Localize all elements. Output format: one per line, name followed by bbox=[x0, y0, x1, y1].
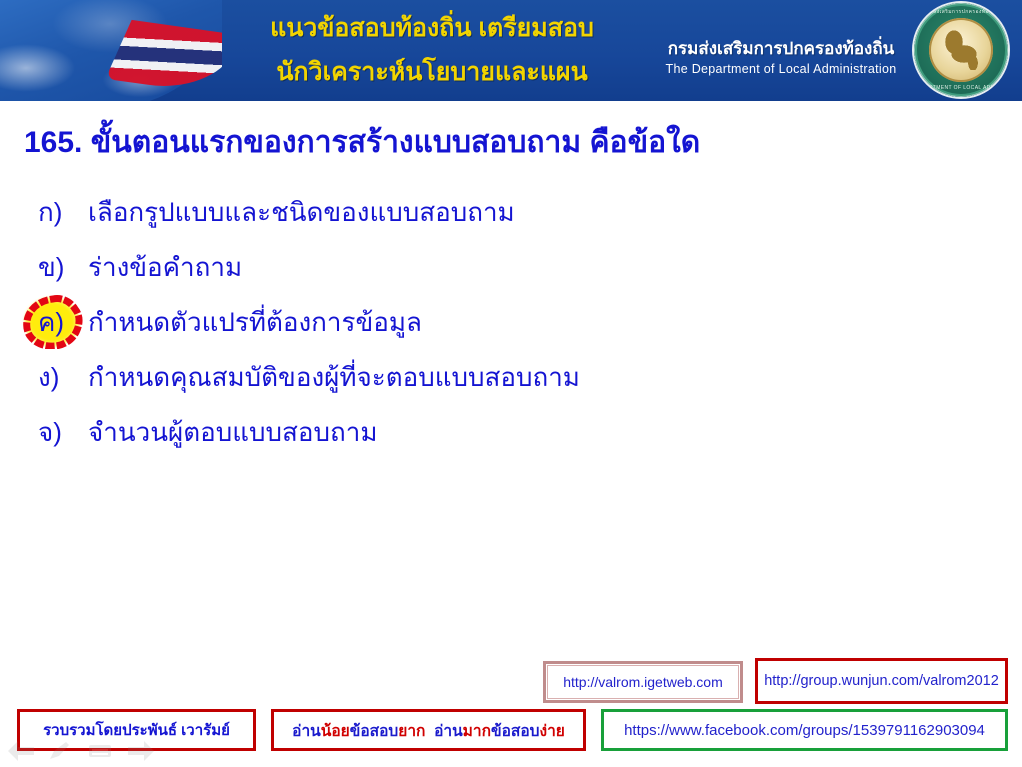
slideshow-next-button[interactable] bbox=[128, 741, 154, 761]
motto-box: อ่านน้อยข้อสอบยาก อ่านมากข้อสอบง่าย bbox=[271, 709, 586, 751]
choice-text-kho: ร่างข้อคำถาม bbox=[88, 250, 970, 284]
choice-item-ka[interactable]: ก) เลือกรูปแบบและชนิดของแบบสอบถาม bbox=[30, 184, 970, 239]
slideshow-pen-button[interactable] bbox=[48, 741, 70, 761]
website-link-box-2[interactable]: http://group.wunjun.com/valrom2012 bbox=[755, 658, 1008, 704]
banner-title-line1: แนวข้อสอบท้องถิ่น เตรียมสอบ bbox=[270, 14, 594, 42]
seal-text-top: กรมส่งเสริมการปกครองท้องถิ่น bbox=[914, 8, 1008, 16]
motto-seg-4: ยาก bbox=[398, 723, 425, 740]
header-banner: แนวข้อสอบท้องถิ่น เตรียมสอบ นักวิเคราะห์… bbox=[0, 0, 1022, 101]
department-name: กรมส่งเสริมการปกครองท้องถิ่น The Departm… bbox=[650, 38, 912, 78]
motto-seg-8: ง่าย bbox=[540, 723, 565, 740]
seal-inner-disc bbox=[929, 18, 993, 82]
choice-item-kho-khwai[interactable]: ค) กำหนดตัวแปรที่ต้องการข้อมูล bbox=[30, 294, 970, 349]
motto-seg-3: ข้อสอบ bbox=[350, 723, 399, 740]
department-seal-icon: กรมส่งเสริมการปกครองท้องถิ่น DEPARTMENT … bbox=[914, 3, 1008, 97]
choice-list: ก) เลือกรูปแบบและชนิดของแบบสอบถาม ข) ร่า… bbox=[30, 184, 970, 459]
question-title: 165. ขั้นตอนแรกของการสร้างแบบสอบถาม คือข… bbox=[24, 123, 974, 163]
choice-key-ka: ก) bbox=[30, 195, 88, 229]
choice-text-cho: จำนวนผู้ตอบแบบสอบถาม bbox=[88, 415, 970, 449]
choice-text-ngo: กำหนดคุณสมบัติของผู้ที่จะตอบแบบสอบถาม bbox=[88, 360, 970, 394]
choice-item-kho[interactable]: ข) ร่างข้อคำถาม bbox=[30, 239, 970, 294]
thai-flag-graphic bbox=[0, 0, 222, 101]
choice-key-kho-khwai: ค) bbox=[30, 305, 88, 339]
motto-seg-5: อ่าน bbox=[434, 723, 463, 740]
choice-text-ka: เลือกรูปแบบและชนิดของแบบสอบถาม bbox=[88, 195, 970, 229]
slideshow-previous-button[interactable] bbox=[8, 741, 34, 761]
motto-seg-6: มาก bbox=[463, 723, 491, 740]
facebook-link[interactable]: https://www.facebook.com/groups/15397911… bbox=[624, 722, 985, 739]
choice-item-cho[interactable]: จ) จำนวนผู้ตอบแบบสอบถาม bbox=[30, 404, 970, 459]
motto-seg-2: น้อย bbox=[321, 723, 350, 740]
seal-text-bottom: DEPARTMENT OF LOCAL ADMINISTRATION bbox=[914, 85, 1008, 91]
website-link-box-1[interactable]: http://valrom.igetweb.com bbox=[543, 661, 743, 703]
lion-emblem-icon bbox=[942, 30, 980, 70]
facebook-link-box[interactable]: https://www.facebook.com/groups/15397911… bbox=[601, 709, 1008, 751]
department-name-english: The Department of Local Administration bbox=[650, 60, 912, 78]
website-link-2[interactable]: http://group.wunjun.com/valrom2012 bbox=[764, 673, 999, 689]
motto-text: อ่านน้อยข้อสอบยาก อ่านมากข้อสอบง่าย bbox=[292, 718, 565, 743]
banner-title-line2: นักวิเคราะห์นโยบายและแผน bbox=[222, 50, 642, 94]
website-link-1[interactable]: http://valrom.igetweb.com bbox=[563, 674, 723, 690]
credit-text: รวบรวมโดยประพันธ์ เวารัมย์ bbox=[43, 718, 230, 742]
motto-seg-1: อ่าน bbox=[292, 723, 321, 740]
choice-key-kho: ข) bbox=[30, 250, 88, 284]
choice-item-ngo[interactable]: ง) กำหนดคุณสมบัติของผู้ที่จะตอบแบบสอบถาม bbox=[30, 349, 970, 404]
choice-text-kho-khwai: กำหนดตัวแปรที่ต้องการข้อมูล bbox=[88, 305, 970, 339]
choice-key-cho: จ) bbox=[30, 415, 88, 449]
slideshow-menu-button[interactable] bbox=[88, 741, 112, 761]
motto-seg-7: ข้อสอบ bbox=[491, 723, 540, 740]
choice-key-ngo: ง) bbox=[30, 360, 88, 394]
banner-title: แนวข้อสอบท้องถิ่น เตรียมสอบ นักวิเคราะห์… bbox=[222, 6, 642, 94]
department-name-thai: กรมส่งเสริมการปกครองท้องถิ่น bbox=[650, 38, 912, 60]
